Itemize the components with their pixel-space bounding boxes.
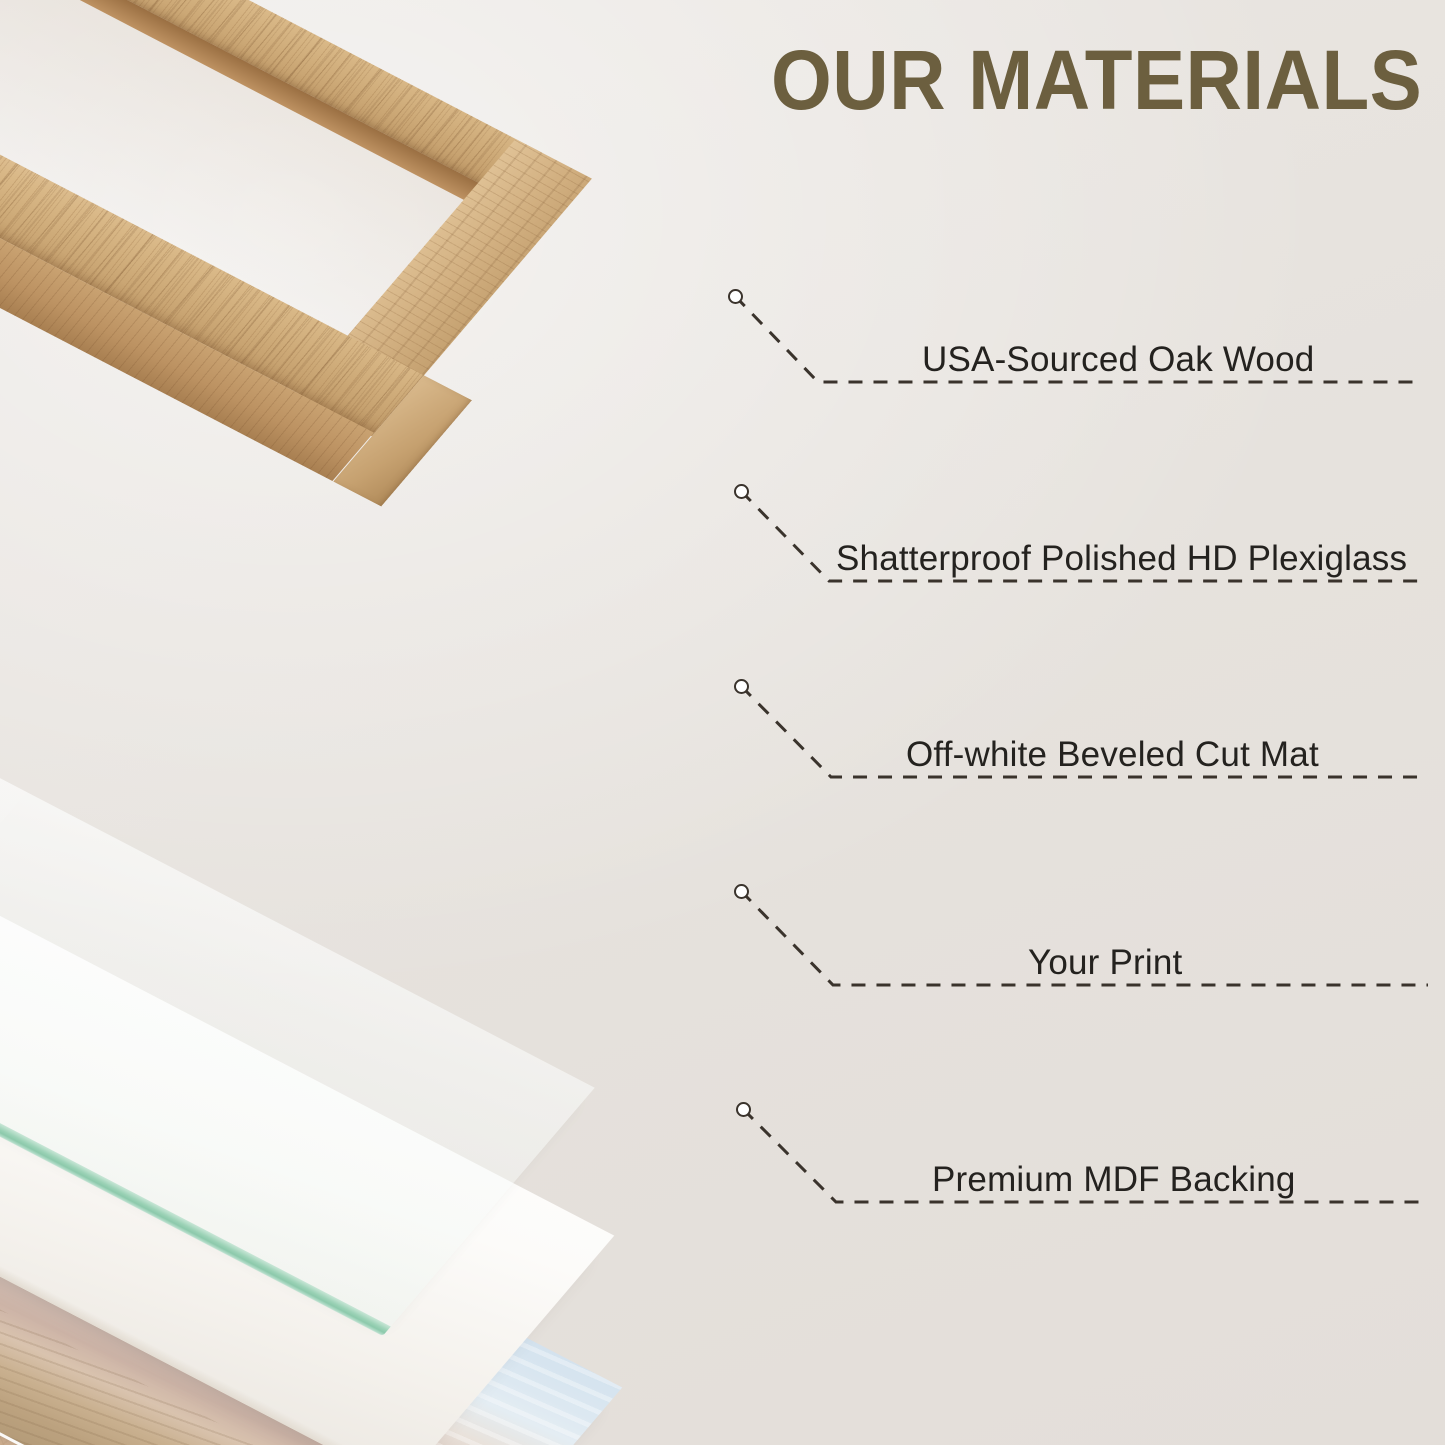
page-title: OUR MATERIALS <box>771 38 1422 122</box>
callout-leader-line <box>721 871 1445 1025</box>
callout-dot-marker <box>728 289 743 304</box>
product-materials-infographic: OUR MATERIALS USA-Sourced Oak WoodShatte… <box>0 0 1445 1445</box>
callout-dot-marker <box>736 1102 751 1117</box>
callout-dot-marker <box>734 484 749 499</box>
callout-leader-line <box>715 276 1434 422</box>
callout-dot-marker <box>734 884 749 899</box>
callout-leader-line <box>721 471 1445 621</box>
callout-leader-line <box>721 666 1445 817</box>
callout-dot-marker <box>734 679 749 694</box>
callout-leader-line <box>723 1089 1445 1242</box>
